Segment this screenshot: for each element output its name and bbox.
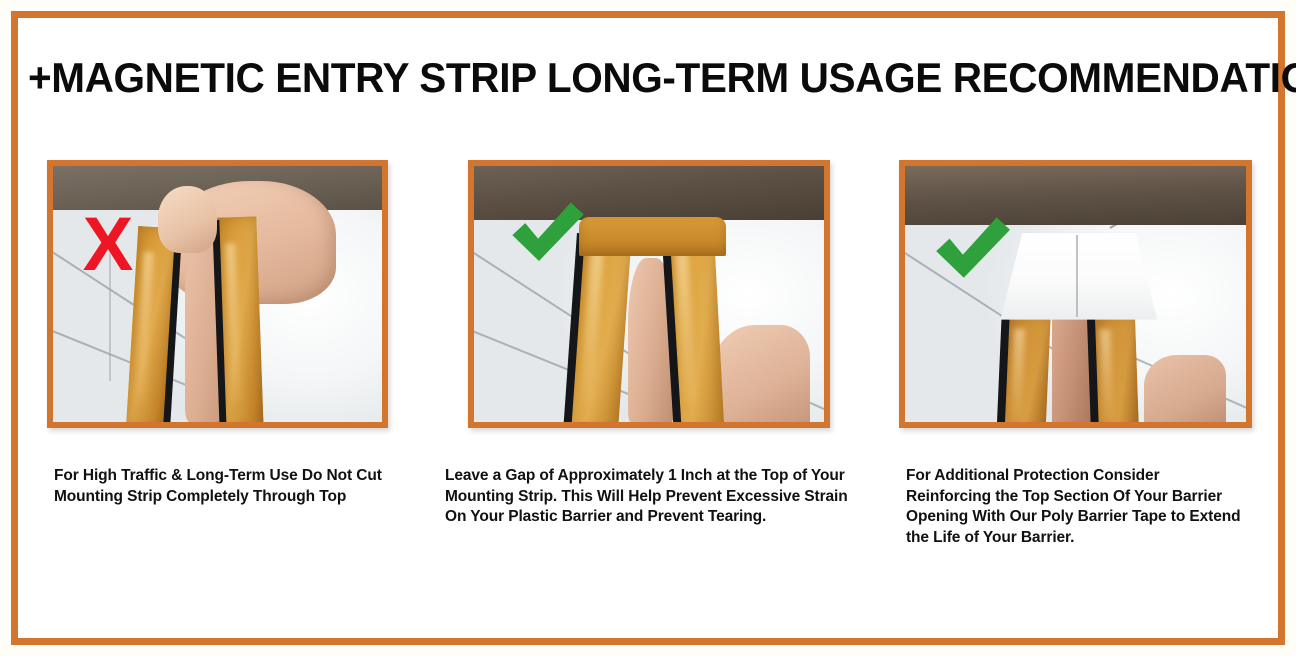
uncut-strip-top-gap — [579, 217, 726, 255]
thumb — [158, 186, 217, 253]
magnetic-strip-right — [1090, 314, 1139, 422]
photo-panel-2 — [468, 160, 830, 428]
green-check-icon — [502, 197, 588, 275]
caption-panel-1: For High Traffic & Long-Term Use Do Not … — [54, 466, 426, 507]
instruction-graphic: +MAGNETIC ENTRY STRIP LONG-TERM USAGE RE… — [0, 0, 1296, 656]
caption-row: For High Traffic & Long-Term Use Do Not … — [0, 466, 1296, 586]
red-x-icon: X — [83, 207, 134, 283]
caption-panel-2: Leave a Gap of Approximately 1 Inch at t… — [445, 466, 857, 528]
photo-image-2 — [474, 166, 824, 422]
hand — [1144, 355, 1226, 422]
poly-barrier-tape — [1000, 233, 1157, 320]
photo-panel-3 — [899, 160, 1252, 428]
finger — [1052, 317, 1093, 422]
photo-image-1: X — [53, 166, 382, 422]
hand — [712, 325, 810, 422]
panel-row: X — [0, 160, 1296, 430]
tape-crease — [1076, 235, 1078, 317]
magnetic-strip-left — [1001, 314, 1051, 422]
photo-panel-1: X — [47, 160, 388, 428]
caption-panel-3: For Additional Protection Consider Reinf… — [906, 466, 1246, 548]
green-check-icon — [925, 212, 1015, 292]
page-title: +MAGNETIC ENTRY STRIP LONG-TERM USAGE RE… — [28, 52, 1230, 104]
photo-image-3 — [905, 166, 1246, 422]
